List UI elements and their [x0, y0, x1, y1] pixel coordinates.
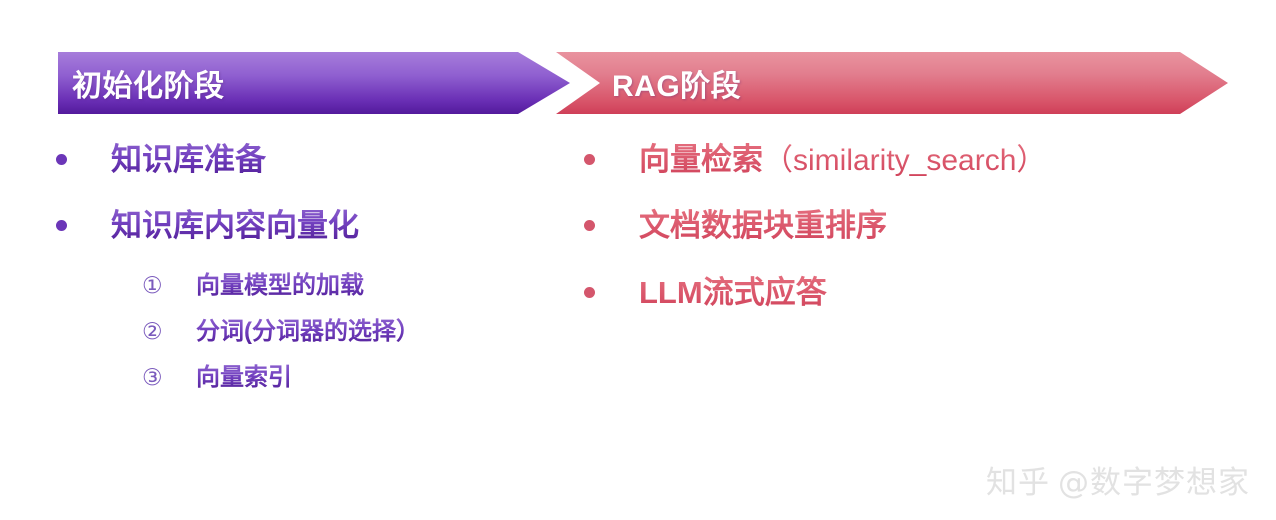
circled-number-icon: ③ [142, 364, 196, 391]
watermark: 知乎@数字梦想家 [986, 457, 1250, 502]
list-item-label-main: 向量检索 [639, 142, 763, 177]
circled-number-icon: ② [142, 318, 196, 345]
list-item: 向量检索（similarity_search） [584, 140, 1244, 180]
initialization-content-column: 知识库准备 知识库内容向量化 ① 向量模型的加载 ② 分词(分词器的选择） ③ … [56, 140, 556, 409]
sub-list-item-label: 分词(分词器的选择） [196, 317, 420, 347]
banner-rag-phase: RAG阶段 [556, 52, 1228, 114]
list-item: 知识库准备 [56, 140, 556, 180]
list-item-label-main: 文档数据块重排序 [639, 208, 887, 243]
bullet-dot-icon [584, 287, 595, 298]
banner-initialization-phase: 初始化阶段 [58, 52, 570, 114]
list-item-label-main: LLM流式应答 [639, 275, 827, 310]
sub-list-item-label: 向量模型的加载 [196, 271, 364, 301]
rag-content-column: 向量检索（similarity_search） 文档数据块重排序 LLM流式应答 [584, 140, 1244, 339]
bullet-dot-icon [584, 154, 595, 165]
watermark-site: 知乎 [986, 465, 1050, 501]
bullet-dot-icon [56, 220, 67, 231]
list-item-label-suffix: （similarity_search） [763, 144, 1046, 177]
banner-rag-label: RAG阶段 [612, 61, 741, 105]
sub-list-item: ① 向量模型的加载 [142, 271, 556, 301]
bullet-dot-icon [56, 154, 67, 165]
vectorization-sub-list: ① 向量模型的加载 ② 分词(分词器的选择） ③ 向量索引 [142, 271, 556, 393]
list-item-label: 知识库内容向量化 [111, 206, 359, 246]
circled-number-icon: ① [142, 272, 196, 299]
list-item-label: LLM流式应答 [639, 273, 827, 313]
sub-list-item: ② 分词(分词器的选择） [142, 317, 556, 347]
list-item-label: 知识库准备 [111, 140, 266, 180]
sub-list-item-label: 向量索引 [196, 363, 292, 393]
sub-list-item: ③ 向量索引 [142, 363, 556, 393]
list-item: 文档数据块重排序 [584, 206, 1244, 246]
list-item: LLM流式应答 [584, 273, 1244, 313]
list-item-label: 向量检索（similarity_search） [639, 140, 1046, 180]
phase-banner-row: 初始化阶段 RAG阶段 [0, 52, 1276, 114]
list-item: 知识库内容向量化 [56, 206, 556, 246]
banner-initialization-label: 初始化阶段 [72, 61, 225, 105]
bullet-dot-icon [584, 220, 595, 231]
watermark-handle: @数字梦想家 [1058, 465, 1250, 501]
list-item-label: 文档数据块重排序 [639, 206, 887, 246]
